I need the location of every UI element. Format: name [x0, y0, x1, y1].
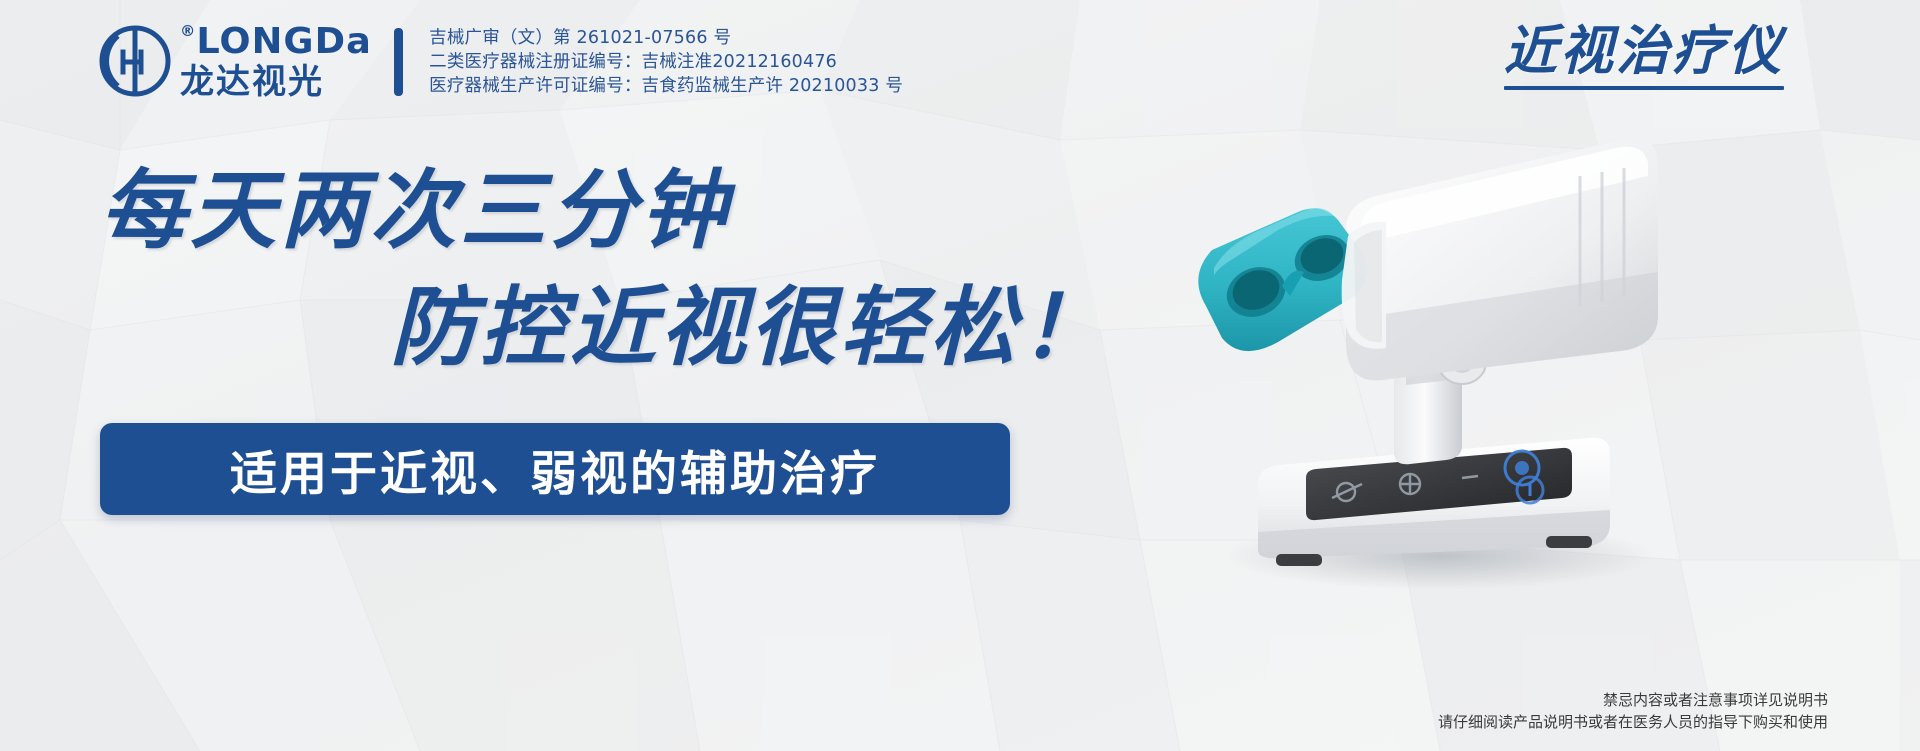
registered-trademark-icon: ® [180, 22, 196, 40]
banner-header: ®LONGDa 龙达视光 吉械广审（文）第 261021-07566 号 二类医… [96, 22, 903, 100]
brand-name-en: ®LONGDa [180, 24, 372, 60]
certification-block: 吉械广审（文）第 261021-07566 号 二类医疗器械注册证编号：吉械注准… [429, 22, 903, 98]
certification-line-production-license: 医疗器械生产许可证编号：吉食药监械生产许 20210033 号 [429, 74, 903, 98]
headline-line-2: 防控近视很轻松！ [390, 285, 1110, 371]
regulatory-disclaimer: 禁忌内容或者注意事项详见说明书 请仔细阅读产品说明书或者在医务人员的指导下购买和… [1438, 689, 1828, 733]
disclaimer-line-1: 禁忌内容或者注意事项详见说明书 [1438, 689, 1828, 711]
disclaimer-line-2: 请仔细阅读产品说明书或者在医务人员的指导下购买和使用 [1438, 711, 1828, 733]
product-title: 近视治疗仪 [1504, 24, 1784, 80]
product-title-block: 近视治疗仪 [1504, 24, 1784, 90]
header-divider [394, 28, 403, 96]
indication-text: 适用于近视、弱视的辅助治疗 [230, 435, 880, 504]
certification-line-ad-approval: 吉械广审（文）第 261021-07566 号 [429, 26, 903, 50]
headline-line-1: 每天两次三分钟 [100, 168, 730, 254]
indication-banner: 适用于近视、弱视的辅助治疗 [100, 423, 1010, 515]
certification-line-registration: 二类医疗器械注册证编号：吉械注准20212160476 [429, 50, 903, 74]
brand-name-en-text: LONGDa [196, 21, 372, 62]
myopia-treatment-device-image [1110, 80, 1810, 600]
promo-banner: ®LONGDa 龙达视光 吉械广审（文）第 261021-07566 号 二类医… [0, 0, 1920, 751]
product-title-underline [1504, 86, 1784, 90]
brand-name-cn: 龙达视光 [180, 65, 368, 99]
brand-logo: ®LONGDa 龙达视光 [96, 22, 368, 100]
longda-circle-logo-icon [96, 22, 174, 100]
